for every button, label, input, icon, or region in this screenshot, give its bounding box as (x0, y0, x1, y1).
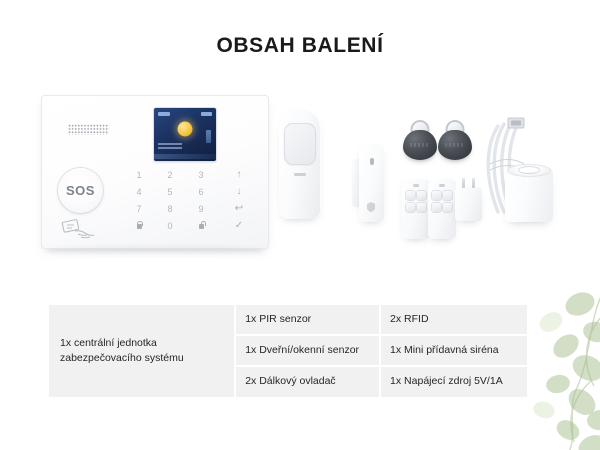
remote-button-home (432, 203, 441, 212)
panel-lcd-screen (154, 108, 216, 161)
cell-door-window-sensor: 1x Dveřní/okenní senzor (236, 336, 379, 365)
remote-led-icon (413, 184, 419, 187)
key-up-arrow[interactable]: ↑ (237, 169, 242, 180)
key-disarm-unlock[interactable] (190, 221, 212, 231)
page-title: OBSAH BALENÍ (0, 34, 600, 58)
key-0[interactable]: 0 (159, 221, 181, 231)
product-photo: SOS 1 2 3 (0, 84, 600, 269)
rfid-fob-body (438, 130, 472, 160)
screen-glyph-icon (206, 130, 211, 143)
battery-status-icon (201, 112, 212, 116)
rfid-key-fob-1 (403, 120, 437, 160)
cell-pir-sensor: 1x PIR senzor (236, 305, 379, 334)
remote-button-sos (417, 203, 426, 212)
screen-bottom-bar (154, 154, 216, 159)
remote-control-1 (402, 179, 430, 239)
speaker-grille-icon (68, 124, 109, 135)
key-confirm[interactable]: ✓ (235, 220, 243, 231)
panel-side-keys[interactable]: ↑ ↓ ↩ ✓ (230, 166, 248, 234)
moon-icon (178, 122, 193, 137)
key-8[interactable]: 8 (159, 204, 181, 214)
key-4[interactable]: 4 (128, 187, 150, 197)
cell-mini-siren: 1x Mini přídavná siréna (381, 336, 527, 365)
signal-status-icon (158, 112, 170, 116)
cell-remote-control: 2x Dálkový ovladač (236, 367, 379, 396)
shield-icon (367, 199, 375, 209)
cell-central-unit: 1x centrální jednotka zabezpečovacího sy… (49, 305, 234, 397)
key-3[interactable]: 3 (190, 170, 212, 180)
key-1[interactable]: 1 (128, 170, 150, 180)
key-9[interactable]: 9 (190, 204, 212, 214)
remote-button-home (406, 203, 415, 212)
door-sensor-led-icon (370, 158, 374, 165)
pir-motion-sensor (279, 109, 321, 219)
door-window-sensor (352, 144, 384, 222)
table-row: 1x centrální jednotka zabezpečovacího sy… (49, 305, 527, 334)
cell-power-adapter: 1x Napájecí zdroj 5V/1A (381, 367, 527, 396)
adapter-prong-left (462, 178, 465, 188)
central-alarm-panel: SOS 1 2 3 (41, 95, 269, 249)
pir-lens (284, 123, 316, 165)
remote-button-disarm (417, 191, 426, 200)
remote-button-arm (432, 191, 441, 200)
key-6[interactable]: 6 (190, 187, 212, 197)
rfid-fob-body (403, 130, 437, 160)
screen-text-lines (158, 143, 182, 151)
package-contents-table: 1x centrální jednotka zabezpečovacího sy… (47, 303, 529, 399)
mini-siren (505, 168, 553, 222)
key-2[interactable]: 2 (159, 170, 181, 180)
sos-button[interactable]: SOS (58, 168, 103, 213)
door-sensor-body (359, 144, 384, 222)
key-back[interactable]: ↩ (235, 203, 243, 214)
cell-rfid: 2x RFID (381, 305, 527, 334)
remote-led-icon (439, 184, 445, 187)
key-5[interactable]: 5 (159, 187, 181, 197)
package-contents-page: OBSAH BALENÍ SOS (0, 0, 600, 450)
remote-control-2 (428, 179, 456, 239)
key-arm-lock[interactable] (128, 221, 150, 231)
remote-button-disarm (443, 191, 452, 200)
rfid-key-fob-2 (438, 120, 472, 160)
remote-button-sos (443, 203, 452, 212)
pir-led-icon (294, 173, 306, 176)
siren-top-ring (507, 164, 551, 177)
key-7[interactable]: 7 (128, 204, 150, 214)
key-down-arrow[interactable]: ↓ (237, 186, 242, 197)
adapter-prong-right (472, 178, 475, 188)
remote-button-arm (406, 191, 415, 200)
panel-keypad[interactable]: 1 2 3 4 5 6 7 8 9 0 (128, 166, 212, 234)
rfid-card-hand-icon (61, 218, 101, 240)
